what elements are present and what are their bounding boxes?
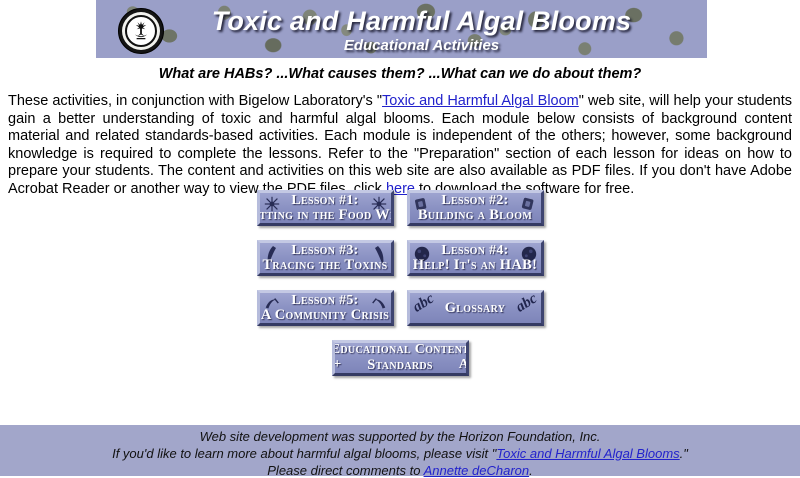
footer-habs-link[interactable]: Toxic and Harmful Algal Blooms xyxy=(496,446,679,461)
module-button-grid: Lesson #1: Fitting in the Food Web Lesso… xyxy=(0,190,800,390)
standards-line1: Educational Content xyxy=(332,343,469,357)
footer-line2-post: ." xyxy=(680,446,688,461)
glossary-button[interactable]: abc abc Glossary xyxy=(407,290,544,326)
lesson-5-line2: A Community Crisis xyxy=(261,308,389,322)
lesson-3-line2: Tracing the Toxins xyxy=(262,258,387,272)
grade-right-icon: A+ xyxy=(459,357,469,373)
lesson-5-line1: Lesson #5: xyxy=(291,294,358,308)
lesson-1-button[interactable]: Lesson #1: Fitting in the Food Web xyxy=(257,190,394,226)
abc-icon: abc xyxy=(410,291,437,317)
button-row-4: Educational Content A+ Standards A+ xyxy=(0,340,800,376)
button-row-2: Lesson #3: Tracing the Toxins Lesson #4:… xyxy=(0,240,800,276)
banner-title: Toxic and Harmful Algal Blooms xyxy=(96,6,707,37)
glossary-label: Glossary xyxy=(445,301,506,315)
footer-line2-pre: If you'd like to learn more about harmfu… xyxy=(112,446,496,461)
footer-line-2: If you'd like to learn more about harmfu… xyxy=(0,444,800,461)
lesson-2-line2: Building a Bloom xyxy=(418,208,532,222)
button-row-1: Lesson #1: Fitting in the Food Web Lesso… xyxy=(0,190,800,226)
banner-subtitle: Educational Activities xyxy=(96,37,707,54)
lesson-1-line1: Lesson #1: xyxy=(291,194,358,208)
footer-line-3: Please direct comments to Annette deChar… xyxy=(0,461,800,478)
educational-content-standards-button[interactable]: Educational Content A+ Standards A+ xyxy=(332,340,469,376)
page-root: Toxic and Harmful Algal Blooms Education… xyxy=(0,0,800,476)
page-tagline: What are HABs? ...What causes them? ...W… xyxy=(0,66,800,82)
lesson-3-line1: Lesson #3: xyxy=(291,244,358,258)
lesson-4-line2: Help! It's an HAB! xyxy=(413,258,537,272)
page-footer: Web site development was supported by th… xyxy=(0,425,800,476)
lesson-5-button[interactable]: Lesson #5: A Community Crisis xyxy=(257,290,394,326)
lesson-2-button[interactable]: Lesson #2: Building a Bloom xyxy=(407,190,544,226)
lesson-2-line1: Lesson #2: xyxy=(441,194,508,208)
abc-icon: abc xyxy=(513,291,540,317)
footer-line-1: Web site development was supported by th… xyxy=(0,425,800,444)
lesson-4-button[interactable]: Lesson #4: Help! It's an HAB! xyxy=(407,240,544,276)
site-banner: Toxic and Harmful Algal Blooms Education… xyxy=(96,0,707,58)
grade-left-icon: A+ xyxy=(332,357,342,373)
standards-line2-group: A+ Standards A+ xyxy=(332,357,469,373)
habs-website-link[interactable]: Toxic and Harmful Algal Bloom xyxy=(382,93,579,109)
button-row-3: Lesson #5: A Community Crisis abc abc Gl… xyxy=(0,290,800,326)
standards-line2: Standards xyxy=(367,358,433,372)
lesson-3-button[interactable]: Lesson #3: Tracing the Toxins xyxy=(257,240,394,276)
lesson-4-line1: Lesson #4: xyxy=(441,244,508,258)
intro-text-part1: These activities, in conjunction with Bi… xyxy=(8,93,382,109)
intro-paragraph: These activities, in conjunction with Bi… xyxy=(8,93,792,199)
lesson-1-line2: Fitting in the Food Web xyxy=(257,208,394,222)
